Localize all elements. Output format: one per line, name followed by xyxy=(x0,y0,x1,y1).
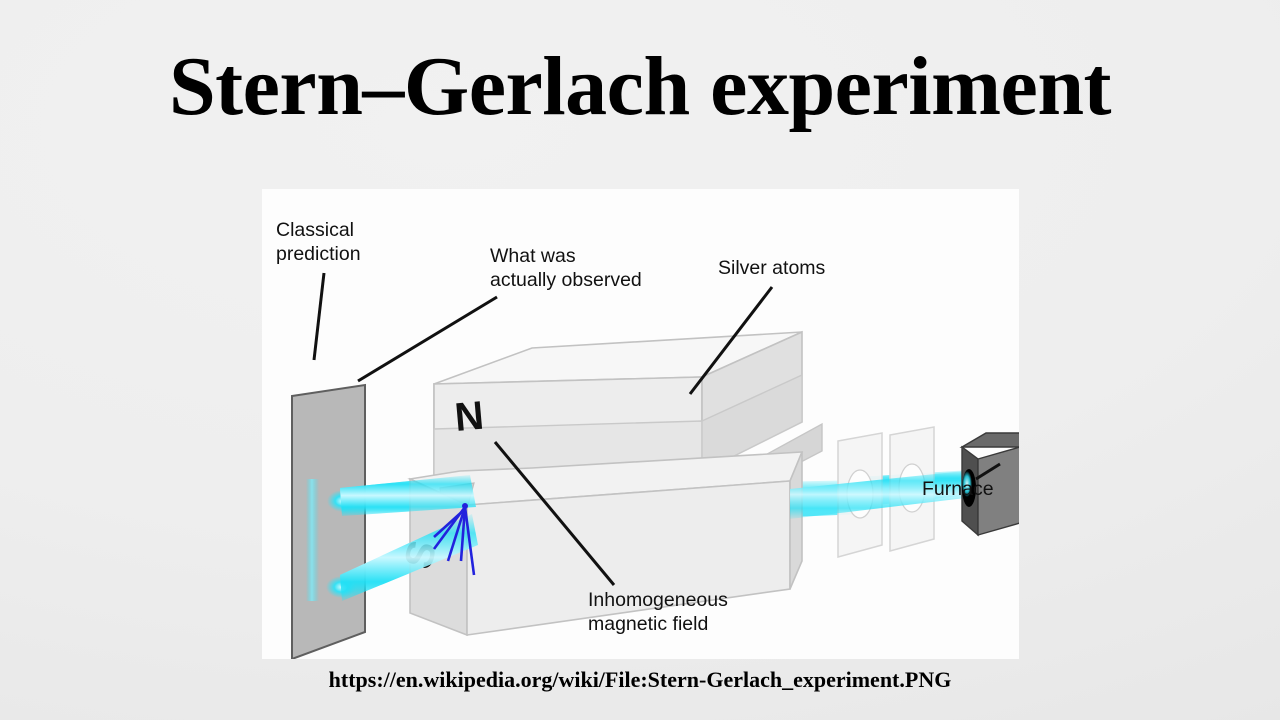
observed-line2: actually observed xyxy=(490,269,642,291)
classical-prediction-line2: prediction xyxy=(276,243,361,265)
observed-line1: What was xyxy=(490,245,576,267)
classical-smear xyxy=(306,479,319,601)
stern-gerlach-diagram: N S xyxy=(262,189,1019,659)
magnetic-field-line1: Inhomogeneous xyxy=(588,589,728,611)
slide-canvas: Stern–Gerlach experiment xyxy=(0,0,1280,720)
source-caption: https://en.wikipedia.org/wiki/File:Stern… xyxy=(0,667,1280,693)
magnetic-field-line2: magnetic field xyxy=(588,613,708,635)
classical-prediction-line1: Classical xyxy=(276,219,354,241)
north-pole-label: N xyxy=(453,394,486,440)
classical-prediction-arrow xyxy=(314,273,324,360)
annotation-classical-prediction: Classical prediction xyxy=(276,219,361,360)
page-title: Stern–Gerlach experiment xyxy=(0,44,1280,130)
silver-atoms-label: Silver atoms xyxy=(718,257,826,279)
detector-screen xyxy=(292,385,365,659)
furnace-label: Furnace xyxy=(922,478,994,500)
figure-panel: N S xyxy=(262,189,1019,659)
